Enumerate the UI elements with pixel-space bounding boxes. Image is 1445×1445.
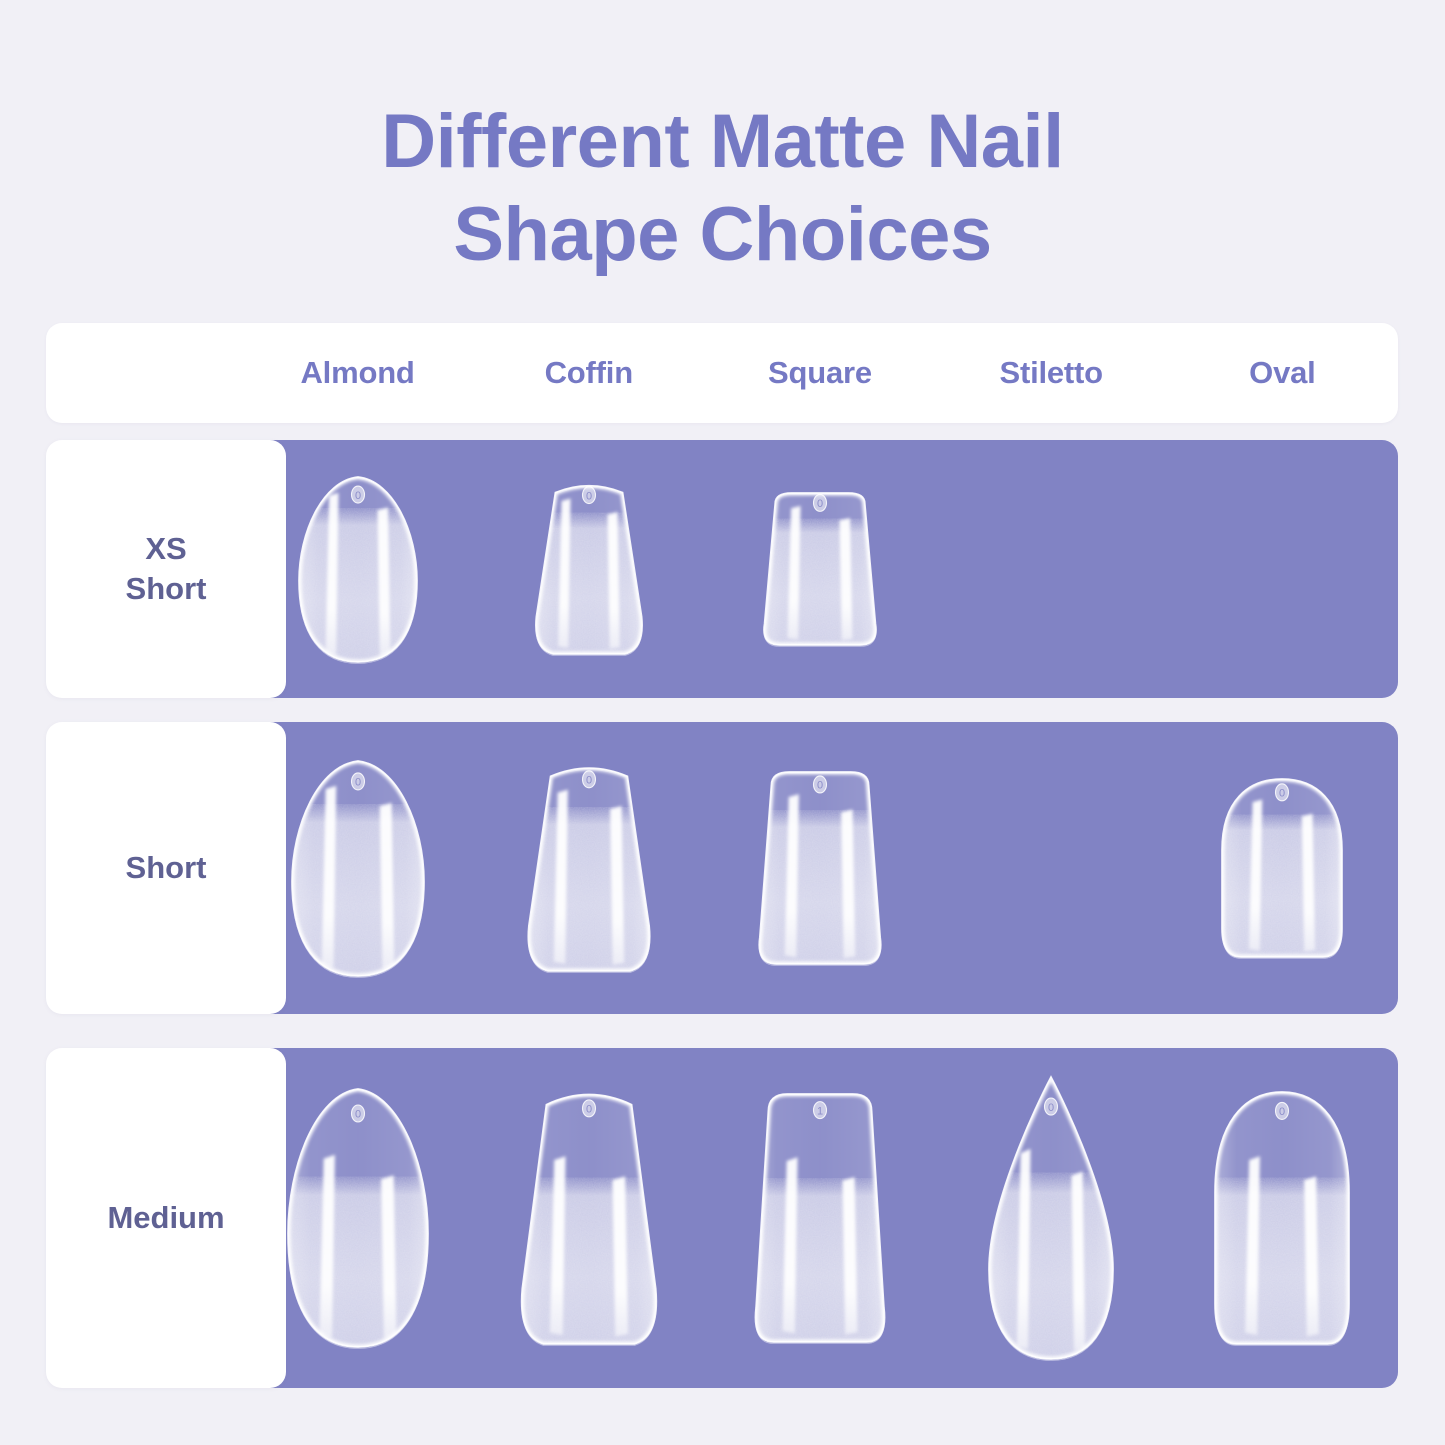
row-cells-short: 0 [242,722,1398,1014]
empty-cell-placeholder [1046,564,1056,574]
cell-xs-short-oval [1167,440,1398,698]
cell-medium-coffin: 0 [473,1048,704,1388]
svg-text:0: 0 [586,1104,592,1116]
oval-nail-tip-icon: 0 [1201,1078,1363,1358]
nail-size-marking: 0 [582,1100,595,1117]
nail-size-marking: 0 [1276,1102,1289,1119]
svg-text:0: 0 [355,776,361,788]
cell-short-stiletto [936,722,1167,1014]
page-title: Different Matte Nail Shape Choices [0,96,1445,281]
cell-medium-stiletto: 0 [936,1048,1167,1388]
cell-medium-square: 1 [704,1048,935,1388]
square-nail-tip-icon: 0 [747,479,893,659]
nail-size-marking: 0 [1045,1098,1058,1115]
column-header-square: Square [704,355,935,391]
cell-short-oval: 0 [1167,722,1398,1014]
row-cells-medium: 0 [242,1048,1398,1388]
nail-size-marking: 0 [582,770,595,787]
table-row-short: Short [46,722,1398,1014]
cell-xs-short-coffin: 0 [473,440,704,698]
empty-cell-placeholder [1046,863,1056,873]
coffin-nail-tip-icon: 0 [511,752,667,985]
svg-text:0: 0 [817,498,823,510]
coffin-nail-tip-icon: 0 [519,470,659,668]
almond-nail-tip-icon: 0 [274,1075,442,1361]
column-header-card: Almond Coffin Square Stiletto Oval [46,323,1398,423]
column-header-stiletto: Stiletto [936,355,1167,391]
stiletto-nail-tip-icon: 0 [975,1063,1127,1373]
svg-text:0: 0 [355,489,361,501]
svg-text:0: 0 [1279,1106,1285,1118]
svg-text:0: 0 [586,774,592,786]
svg-text:0: 0 [817,780,823,792]
page-title-line-2: Shape Choices [0,189,1445,282]
page-title-line-1: Different Matte Nail [0,96,1445,189]
row-label-medium: Medium [107,1198,224,1238]
svg-text:1: 1 [817,1105,823,1117]
cell-xs-short-square: 0 [704,440,935,698]
almond-nail-tip-icon: 0 [278,747,438,990]
row-label-xs-short: XS Short [126,529,207,608]
nail-size-marking: 1 [813,1102,826,1119]
coffin-nail-tip-icon: 0 [504,1078,674,1358]
cell-medium-oval: 0 [1167,1048,1398,1388]
svg-text:0: 0 [586,490,592,502]
square-nail-tip-icon: 1 [738,1080,902,1356]
cell-medium-almond: 0 [242,1048,473,1388]
column-header-oval: Oval [1167,355,1398,391]
square-nail-tip-icon: 0 [742,758,898,978]
cell-xs-short-stiletto [936,440,1167,698]
nail-size-marking: 0 [351,1105,364,1122]
almond-nail-tip-icon: 0 [285,463,431,676]
nail-size-marking: 0 [813,776,826,793]
table-row-xs-short: XS Short [46,440,1398,698]
table-row-medium: Medium [46,1048,1398,1388]
cell-short-coffin: 0 [473,722,704,1014]
svg-text:0: 0 [1279,788,1285,800]
column-header-coffin: Coffin [473,355,704,391]
nail-size-marking: 0 [1276,784,1289,801]
cell-short-almond: 0 [242,722,473,1014]
nail-shape-chart-page: Different Matte Nail Shape Choices Almon… [0,0,1445,1445]
cell-short-square: 0 [704,722,935,1014]
nail-size-marking: 0 [351,486,364,503]
nail-size-marking: 0 [813,494,826,511]
row-label-short: Short [126,848,207,888]
nail-size-marking: 0 [582,487,595,504]
nail-size-marking: 0 [351,772,364,789]
svg-text:0: 0 [355,1109,361,1121]
cell-xs-short-almond: 0 [242,440,473,698]
column-header-grid: Almond Coffin Square Stiletto Oval [242,323,1398,423]
column-header-almond: Almond [242,355,473,391]
empty-cell-placeholder [1277,564,1287,574]
oval-nail-tip-icon: 0 [1208,765,1356,971]
row-cells-xs-short: 0 [242,440,1398,698]
svg-text:0: 0 [1048,1102,1054,1114]
